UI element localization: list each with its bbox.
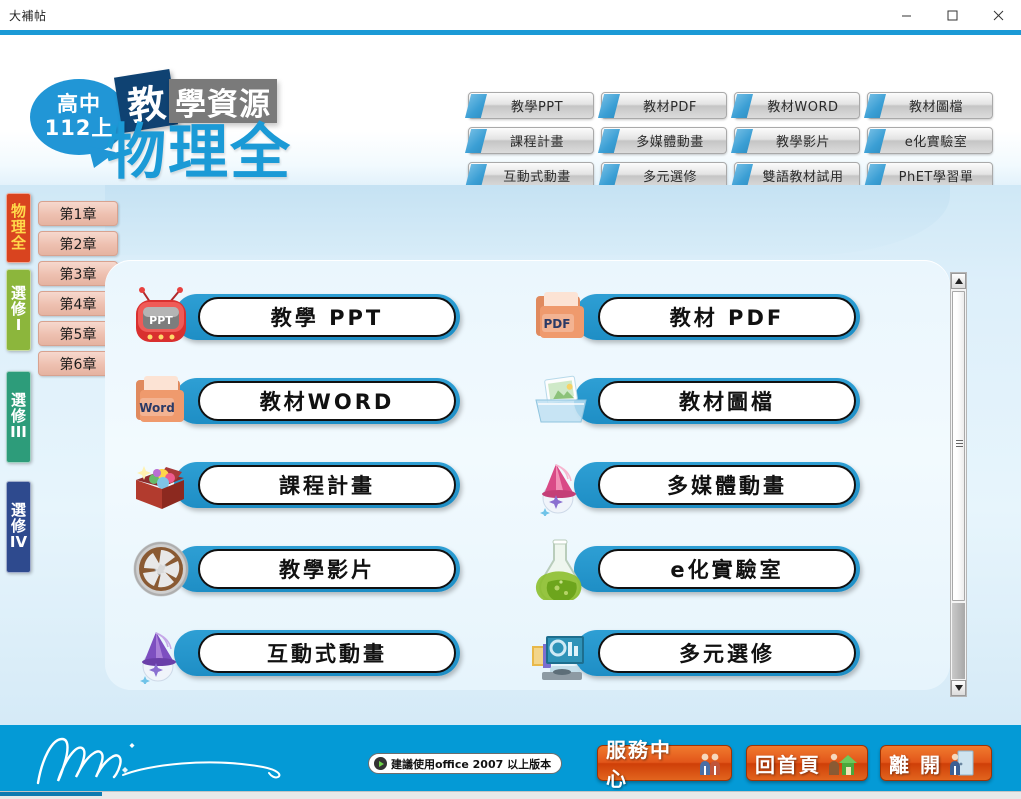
nav-button-label: 多媒體動畫 [624, 131, 704, 150]
home-label: 回首頁 [755, 749, 821, 778]
ppt-tv-icon: PPT [130, 286, 192, 348]
main-button-jiaocai-word[interactable]: Word 教材WORD [130, 367, 460, 435]
main-button-pill: 教材WORD [174, 378, 460, 424]
grade-badge-line2: 112上 [30, 117, 128, 141]
nav-button-duomeiti-donghua[interactable]: 多媒體動畫 [601, 127, 727, 154]
brand-logo: 高中 112上 教 學資源 物理全 [18, 71, 318, 190]
main-button-jiaocai-pdf[interactable]: PDF 教材 PDF [530, 283, 860, 351]
sidebar-tab-char: III [10, 425, 27, 441]
main-button-grid: PPT 教學 PPT PDF 教材 PDF [130, 283, 870, 687]
main-button-label: e化實驗室 [598, 549, 856, 589]
sidebar-tab-wulichuan[interactable]: 物 理 全 [6, 193, 31, 263]
svg-text:PDF: PDF [544, 317, 571, 331]
content-area: 物 理 全 選 修 I 選 修 III 選 修 IV 第1章 第2章 第3章 第… [0, 185, 1021, 725]
exit-label: 離 開 [889, 749, 942, 778]
magic-hat-purple-icon [130, 622, 192, 684]
service-center-label: 服務中心 [606, 734, 691, 792]
content-scrollbar[interactable] [950, 272, 967, 697]
main-button-label: 教材WORD [198, 381, 456, 421]
sidebar-tab-xuanxiu-4[interactable]: 選 修 IV [6, 481, 31, 573]
panel-top-swoosh [105, 185, 950, 255]
main-button-pill: 教學 PPT [174, 294, 460, 340]
minimize-icon[interactable] [883, 0, 929, 30]
svg-text:PPT: PPT [149, 314, 173, 327]
main-button-label: 課程計畫 [198, 465, 456, 505]
main-button-pill: 教材圖檔 [574, 378, 860, 424]
main-button-label: 教學 PPT [198, 297, 456, 337]
nav-button-label: 雙語教材試用 [750, 166, 843, 185]
nav-button-label: 教學PPT [499, 96, 563, 115]
gift-box-icon [130, 454, 192, 516]
main-button-label: 教學影片 [198, 549, 456, 589]
header-nav-grid: 教學PPT 教材PDF 教材WORD 教材圖檔 課程計畫 多媒體動畫 教學影片 … [468, 92, 1000, 189]
nav-button-label: 互動式動畫 [491, 166, 571, 185]
nav-button-jiaocai-word[interactable]: 教材WORD [734, 92, 860, 119]
grade-badge-line1: 高中 [30, 93, 128, 117]
people-icon [697, 750, 723, 776]
service-center-button[interactable]: 服務中心 [597, 745, 732, 781]
sidebar-tab-char: 全 [11, 236, 26, 252]
home-button[interactable]: 回首頁 [746, 745, 868, 781]
taskbar-active-item [0, 792, 102, 796]
nav-button-label: 課程計畫 [498, 131, 564, 150]
nav-button-jiaocai-tudang[interactable]: 教材圖檔 [867, 92, 993, 119]
main-button-pill: 多媒體動畫 [574, 462, 860, 508]
window-controls [883, 0, 1021, 30]
sidebar-tab-char: IV [10, 535, 27, 551]
subject-title: 物理全 [106, 123, 292, 183]
nav-button-kecheng-jihua[interactable]: 課程計畫 [468, 127, 594, 154]
scrollbar-grip-icon [956, 440, 963, 449]
office-version-notice: 建議使用office 2007 以上版本 [368, 753, 562, 774]
scrollbar-thumb[interactable] [952, 291, 965, 601]
play-icon [374, 757, 387, 770]
scroll-down-icon[interactable] [951, 680, 966, 696]
nav-button-label: 教學影片 [764, 131, 830, 150]
nav-button-shuangyu-shiyong[interactable]: 雙語教材試用 [734, 162, 860, 189]
projector-screen-icon [530, 622, 592, 684]
home-icon [827, 750, 853, 776]
green-flask-icon [530, 538, 592, 600]
window-title: 大補帖 [0, 7, 47, 24]
nav-button-jiaoxue-ppt[interactable]: 教學PPT [468, 92, 594, 119]
nav-button-label: 教材PDF [631, 96, 697, 115]
main-button-hudongshi-donghua[interactable]: 互動式動畫 [130, 619, 460, 687]
main-button-pill: 互動式動畫 [174, 630, 460, 676]
chapter-button-1[interactable]: 第1章 [38, 201, 118, 226]
main-button-pill: 教材 PDF [574, 294, 860, 340]
main-button-label: 教材圖檔 [598, 381, 856, 421]
nani-logo [28, 731, 328, 787]
main-button-label: 互動式動畫 [198, 633, 456, 673]
logo-xue-box: 學資源 [169, 79, 277, 123]
nav-button-label: e化實驗室 [893, 131, 968, 150]
main-button-duoyuan-xuanxiu[interactable]: 多元選修 [530, 619, 860, 687]
nav-button-label: PhET學習單 [887, 166, 974, 185]
main-button-pill: 多元選修 [574, 630, 860, 676]
main-button-label: 多媒體動畫 [598, 465, 856, 505]
main-button-jiaoxue-ppt[interactable]: PPT 教學 PPT [130, 283, 460, 351]
sidebar: 物 理 全 選 修 I 選 修 III 選 修 IV 第1章 第2章 第3章 第… [6, 193, 104, 718]
film-reel-icon [130, 538, 192, 600]
main-button-label: 多元選修 [598, 633, 856, 673]
main-button-e-lab[interactable]: e化實驗室 [530, 535, 860, 603]
logo-xue-text: 學資源 [175, 79, 271, 124]
main-button-jiaoxue-yingpian[interactable]: 教學影片 [130, 535, 460, 603]
nav-button-e-lab[interactable]: e化實驗室 [867, 127, 993, 154]
scrollbar-track-lower[interactable] [952, 603, 965, 679]
main-button-jiaocai-tudang[interactable]: 教材圖檔 [530, 367, 860, 435]
window-titlebar: 大補帖 [0, 0, 1021, 30]
main-button-pill: 課程計畫 [174, 462, 460, 508]
main-button-pill: 教學影片 [174, 546, 460, 592]
sidebar-tab-char: I [16, 318, 22, 334]
office-version-text: 建議使用office 2007 以上版本 [391, 756, 551, 772]
image-tray-icon [530, 370, 592, 432]
main-button-kecheng-jihua[interactable]: 課程計畫 [130, 451, 460, 519]
sidebar-tab-xuanxiu-1[interactable]: 選 修 I [6, 269, 31, 351]
maximize-icon[interactable] [929, 0, 975, 30]
main-button-duomeiti-donghua[interactable]: 多媒體動畫 [530, 451, 860, 519]
word-folder-icon: Word [130, 370, 192, 432]
sidebar-tab-xuanxiu-3[interactable]: 選 修 III [6, 371, 31, 463]
nav-button-label: 教材圖檔 [897, 96, 963, 115]
main-button-label: 教材 PDF [598, 297, 856, 337]
exit-door-icon [948, 750, 974, 776]
exit-button[interactable]: 離 開 [880, 745, 992, 781]
main-button-pill: e化實驗室 [574, 546, 860, 592]
svg-text:Word: Word [139, 401, 175, 415]
pdf-folder-icon: PDF [530, 286, 592, 348]
app-header: 高中 112上 教 學資源 物理全 教學PPT 教材PDF 教材WORD 教材圖… [0, 35, 1021, 190]
scroll-up-icon[interactable] [951, 273, 966, 289]
nav-button-label: 教材WORD [755, 96, 838, 115]
nav-button-jiaoxue-yingpian[interactable]: 教學影片 [734, 127, 860, 154]
chapter-button-2[interactable]: 第2章 [38, 231, 118, 256]
nav-button-label: 多元選修 [631, 166, 697, 185]
close-icon[interactable] [975, 0, 1021, 30]
nav-button-jiaocai-pdf[interactable]: 教材PDF [601, 92, 727, 119]
os-taskbar [0, 791, 1021, 799]
magic-hat-pink-icon [530, 454, 592, 516]
